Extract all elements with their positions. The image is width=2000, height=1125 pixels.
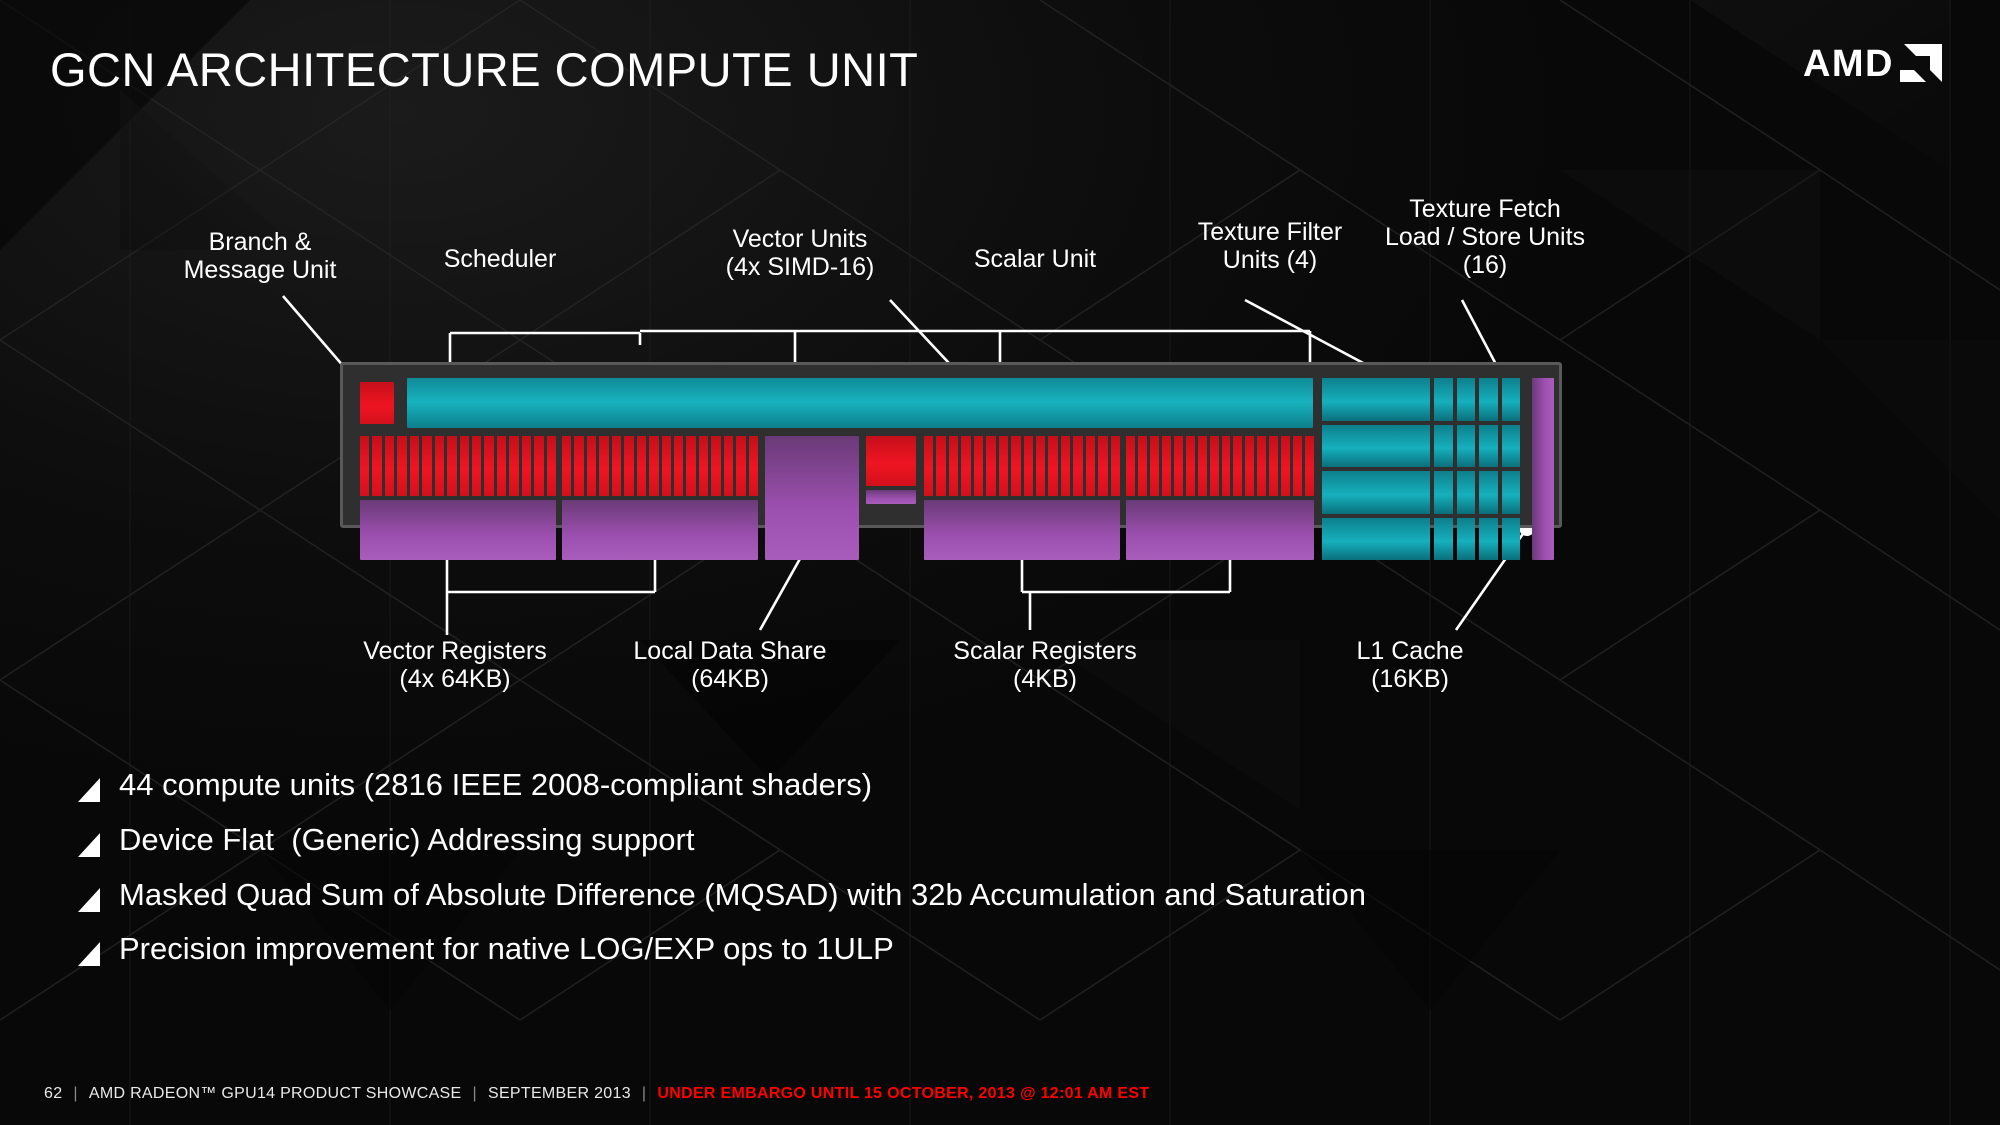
block-texture-fetch-load-store-units [1322,378,1430,560]
block-vector-registers-1 [360,500,556,560]
texture-filter-cell [1457,378,1476,421]
texture-filter-cell [1502,425,1521,468]
texture-filter-cell [1479,378,1498,421]
block-scalar-registers [866,490,916,504]
block-vector-registers-3 [924,500,1120,560]
texture-load-store-row [1322,378,1430,421]
triangle-bullet-icon [78,833,100,857]
texture-filter-cell [1457,518,1476,561]
texture-filter-cell [1479,471,1498,514]
footer-date: SEPTEMBER 2013 [488,1085,631,1103]
texture-filter-cell [1502,378,1521,421]
block-vector-registers-2 [562,500,758,560]
triangle-bullet-icon [78,778,100,802]
list-item: Precision improvement for native LOG/EXP… [78,930,1928,969]
compute-unit-die [340,362,1562,528]
texture-load-store-row [1322,471,1430,514]
bullet-text: Device Flat (Generic) Addressing support [119,821,694,860]
texture-filter-cell [1434,471,1453,514]
bullet-list: 44 compute units (2816 IEEE 2008-complia… [78,766,1928,985]
block-branch-message-unit [360,382,394,424]
block-simd-group-2 [562,436,758,496]
texture-filter-cell [1434,425,1453,468]
block-simd-group-3 [924,436,1120,496]
block-scalar-unit [866,436,916,486]
slide-footer: 62 | AMD RADEON™ GPU14 PRODUCT SHOWCASE … [44,1085,1149,1103]
block-vector-registers-4 [1126,500,1314,560]
block-local-data-share [765,436,859,560]
footer-page-number: 62 [44,1085,62,1103]
block-scheduler [407,378,1313,428]
footer-separator: | [631,1085,657,1103]
list-item: Masked Quad Sum of Absolute Difference (… [78,876,1928,915]
texture-filter-cell [1502,471,1521,514]
bullet-text: Masked Quad Sum of Absolute Difference (… [119,876,1366,915]
triangle-bullet-icon [78,888,100,912]
texture-filter-cell [1434,518,1453,561]
block-texture-filter-units [1434,378,1520,560]
texture-filter-cell [1479,518,1498,561]
texture-load-store-row [1322,518,1430,561]
block-l1-cache [1532,378,1554,560]
texture-filter-cell [1457,425,1476,468]
list-item: 44 compute units (2816 IEEE 2008-complia… [78,766,1928,805]
block-simd-group-4 [1126,436,1314,496]
texture-load-store-row [1322,425,1430,468]
texture-filter-cell [1434,378,1453,421]
bullet-text: 44 compute units (2816 IEEE 2008-complia… [119,766,872,805]
footer-deck-name: AMD RADEON™ GPU14 PRODUCT SHOWCASE [89,1085,462,1103]
footer-embargo-notice: UNDER EMBARGO UNTIL 15 OCTOBER, 2013 @ 1… [657,1085,1149,1103]
footer-separator: | [462,1085,488,1103]
texture-filter-cell [1479,425,1498,468]
triangle-bullet-icon [78,942,100,966]
footer-separator: | [62,1085,88,1103]
list-item: Device Flat (Generic) Addressing support [78,821,1928,860]
slide-root: GCN ARCHITECTURE COMPUTE UNIT AMD Branch… [0,0,2000,1125]
texture-filter-cell [1457,471,1476,514]
bullet-text: Precision improvement for native LOG/EXP… [119,930,894,969]
block-simd-group-1 [360,436,556,496]
texture-filter-cell [1502,518,1521,561]
